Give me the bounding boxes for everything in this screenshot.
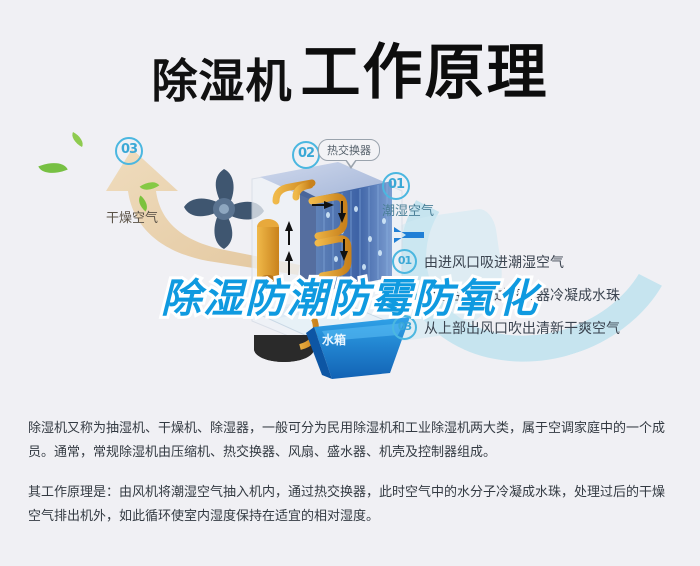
callout-tail-icon (345, 160, 357, 169)
humid-air-label: 潮湿空气 (382, 200, 434, 219)
dry-air-label: 干燥空气 (106, 207, 158, 226)
leaf-icon (69, 132, 86, 147)
body-copy: 除湿机又称为抽湿机、干燥机、除湿器，一般可分为民用除湿机和工业除湿机两大类，属于… (28, 417, 676, 545)
water-tank-label: 水箱 (322, 331, 346, 348)
diagram-badge-02: 02 (292, 141, 320, 169)
overlay-headline: 除湿防潮防霉防氧化 (0, 266, 700, 324)
page-root: 除湿机工作原理 (0, 0, 700, 566)
diagram-badge-01: 01 (382, 172, 410, 200)
body-paragraph-1: 除湿机又称为抽湿机、干燥机、除湿器，一般可分为民用除湿机和工业除湿机两大类，属于… (28, 417, 676, 465)
page-title-secondary: 工作原理 (301, 38, 549, 108)
heat-exchanger-callout-label: 热交换器 (327, 144, 371, 157)
overlay-headline-text: 除湿防潮防霉防氧化 (161, 276, 539, 322)
heat-exchanger-callout: 热交换器 (318, 139, 380, 161)
body-paragraph-2: 其工作原理是：由风机将潮湿空气抽入机内，通过热交换器，此时空气中的水分子冷凝成水… (28, 481, 676, 529)
diagram-badge-03: 03 (115, 137, 143, 165)
page-title: 除湿机工作原理 (0, 24, 700, 111)
page-title-primary: 除湿机 (152, 54, 293, 108)
